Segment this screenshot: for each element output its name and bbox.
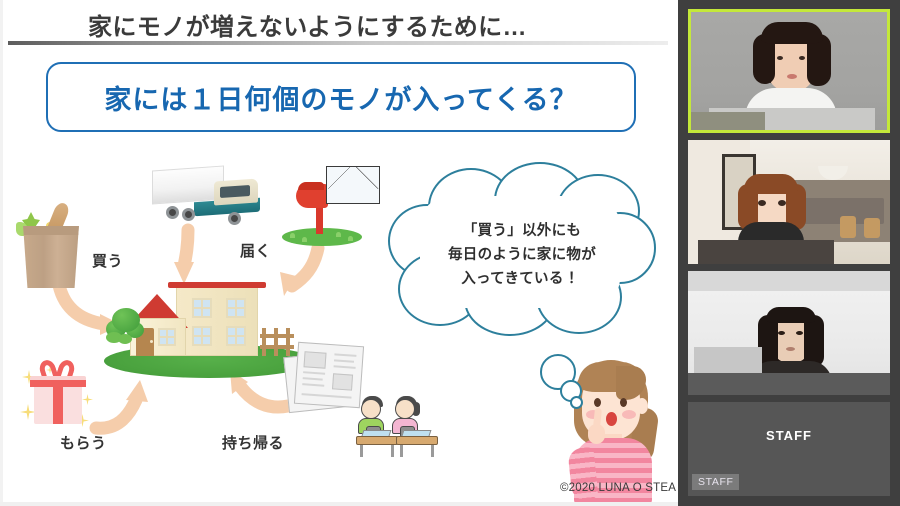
video-tile-participant-2[interactable]: [688, 140, 890, 264]
video-tile-participant-3[interactable]: [688, 271, 890, 395]
video-participants-panel: STAFF STAFF: [678, 0, 900, 506]
staff-name-badge: STAFF: [692, 474, 739, 490]
bubble-text: 「買う」以外にも 毎日のように家に物が 入ってきている ！: [418, 220, 626, 292]
page-title: 家にモノが増えないようにするために…: [88, 7, 527, 42]
screen: 家にモノが増えないようにするために… 家には１日何個のモノが入ってくる？: [0, 0, 900, 506]
illustration-canvas: 買う: [0, 138, 678, 506]
title-divider: [8, 41, 668, 45]
copyright-text: ©2020 LUNA O STEA: [560, 482, 676, 494]
house-illustration: [104, 266, 314, 384]
thought-bubble: 「買う」以外にも 毎日のように家に物が 入ってきている ！: [388, 168, 656, 350]
school-children-illustration: [356, 386, 448, 460]
grocery-bag-illustration: [14, 196, 88, 288]
question-text: 家には１日何個のモノが入ってくる？: [104, 78, 577, 117]
video-tile-participant-1[interactable]: [688, 9, 890, 133]
presentation-slide: 家にモノが増えないようにするために… 家には１日何個のモノが入ってくる？: [0, 0, 678, 506]
delivery-truck-illustration: [152, 166, 268, 228]
slide-bottom-edge: [0, 502, 678, 506]
envelope-icon: [326, 166, 380, 204]
question-callout-box: 家には１日何個のモノが入ってくる？: [46, 62, 636, 132]
gift-box-illustration: [20, 360, 92, 428]
label-receive: もらう: [60, 432, 107, 453]
staff-center-label: STAFF: [688, 428, 890, 443]
video-tile-participant-4-staff[interactable]: STAFF STAFF: [688, 402, 890, 496]
label-bring-home: 持ち帰る: [222, 432, 284, 453]
label-deliver: 届く: [240, 240, 271, 261]
